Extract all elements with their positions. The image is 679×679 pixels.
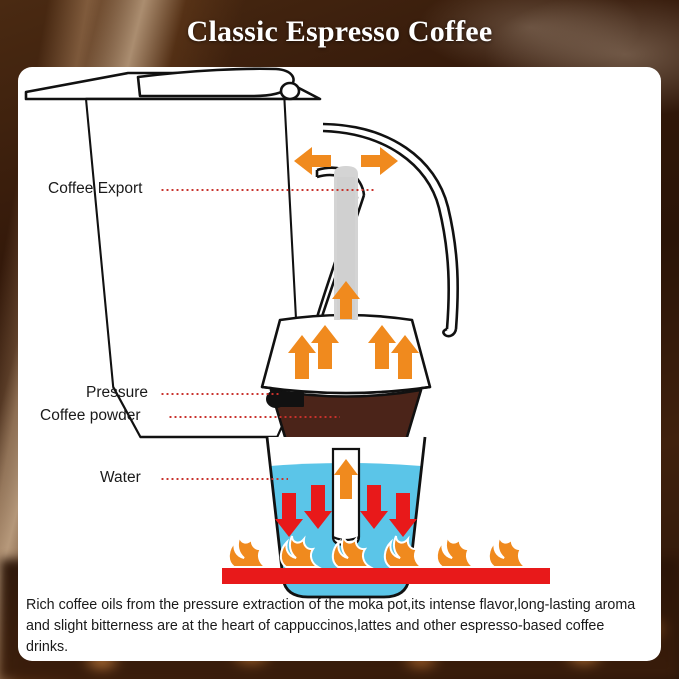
lid-detail-icon: [138, 69, 299, 99]
leader-water: [160, 478, 288, 480]
screenshot-root: Classic Espresso Coffee: [0, 0, 679, 679]
burner: [222, 568, 550, 584]
caption-text: Rich coffee oils from the pressure extra…: [26, 595, 648, 658]
label-coffee-powder: Coffee powder: [40, 407, 141, 425]
leader-pressure: [160, 393, 280, 395]
arrow-right-orange: [361, 147, 398, 175]
arrow-left-orange: [294, 147, 331, 175]
label-coffee-export: Coffee Export: [48, 180, 143, 198]
moka-pot-diagram: [18, 67, 661, 661]
label-water: Water: [100, 469, 141, 487]
diagram-panel: Coffee Export Pressure Coffee powder Wat…: [18, 67, 661, 661]
label-pressure: Pressure: [86, 384, 148, 402]
leader-coffee-powder: [168, 416, 340, 418]
leader-coffee-export: [160, 189, 375, 191]
page-title: Classic Espresso Coffee: [0, 15, 679, 49]
